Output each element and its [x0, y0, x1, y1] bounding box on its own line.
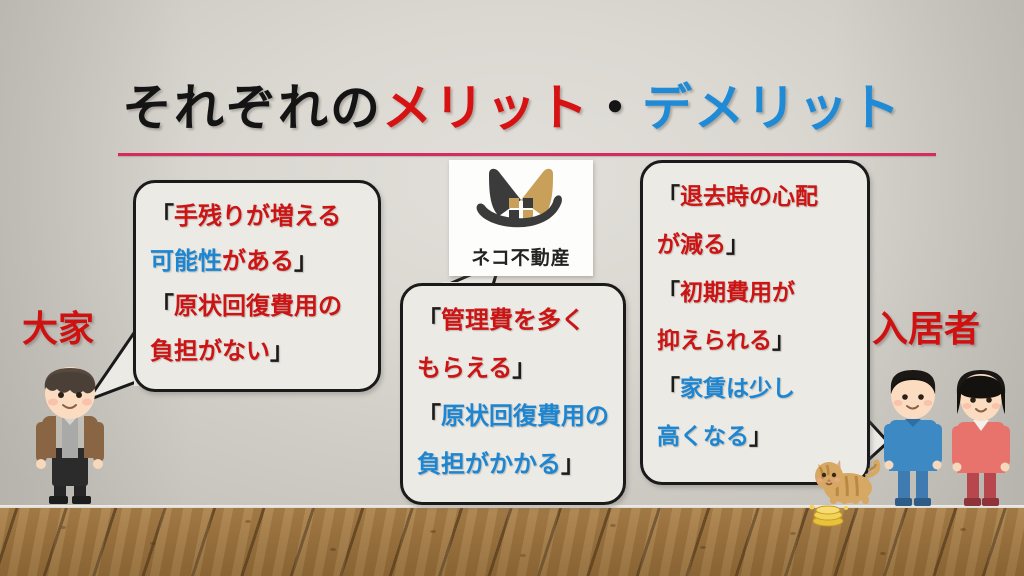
tenant-woman	[944, 364, 1018, 512]
wooden-floor	[0, 508, 1024, 576]
bubble-owner-line-1: 「手残りが増える	[150, 193, 366, 238]
text-red: がある	[222, 246, 294, 275]
bracket-close: 」	[270, 336, 294, 365]
text-blue: 高くなる	[657, 423, 749, 450]
text-red: 原状回復費用の	[174, 291, 342, 320]
bracket-close: 」	[749, 423, 772, 450]
text-red: もらえる	[417, 353, 512, 382]
bracket-open: 「	[657, 183, 680, 210]
bracket-open: 「	[150, 291, 174, 320]
slide-canvas: それぞれのメリット・デメリット 大家 入居者 「手残りが増える 可能性がある」 …	[0, 0, 1024, 576]
bubble-agent-line-2: もらえる」	[417, 344, 611, 392]
text-blue: 負担がかかる	[417, 449, 561, 478]
landlord-man	[18, 360, 122, 512]
bracket-open: 「	[417, 401, 441, 430]
bubble-tenant-line-3: 「初期費用が	[657, 269, 855, 317]
floor-knots	[0, 508, 1024, 576]
bubble-tenant-lines: 「退去時の心配 が減る」 「初期費用が 抑えられる」 「家賃は少し 高くなる」	[643, 163, 867, 461]
title-part-black-1: それぞれの	[122, 78, 382, 137]
bubble-owner-line-4: 負担がない」	[150, 328, 366, 373]
text-red: 管理費を多く	[441, 305, 585, 334]
speech-bubble-owner: 「手残りが増える 可能性がある」 「原状回復費用の 負担がない」	[133, 180, 381, 392]
gold-coins	[806, 505, 852, 527]
speech-bubble-tenant: 「退去時の心配 が減る」 「初期費用が 抑えられる」 「家賃は少し 高くなる」	[640, 160, 870, 485]
cat-house-icon	[449, 164, 593, 236]
bracket-open: 「	[657, 375, 680, 402]
bubble-tenant-line-5: 「家賃は少し	[657, 365, 855, 413]
text-red: 退去時の心配	[680, 183, 818, 210]
text-red: 抑えられる	[657, 327, 772, 354]
page-title: それぞれのメリット・デメリット	[0, 68, 1024, 140]
bubble-agent-line-3: 「原状回復費用の	[417, 392, 611, 440]
label-tenant: 入居者	[872, 300, 980, 352]
bubble-tenant-line-2: が減る」	[657, 221, 855, 269]
bracket-open: 「	[417, 305, 441, 334]
bracket-open: 「	[657, 279, 680, 306]
text-red: 初期費用が	[680, 279, 795, 306]
text-blue: 家賃は少し	[680, 375, 795, 402]
bracket-close: 」	[726, 231, 749, 258]
tabby-cat	[810, 448, 888, 510]
bubble-agent-line-4: 負担がかかる」	[417, 440, 611, 488]
bubble-agent-lines: 「管理費を多く もらえる」 「原状回復費用の 負担がかかる」	[403, 286, 623, 488]
title-divider	[118, 153, 936, 156]
title-part-merit: メリット	[382, 78, 590, 137]
title-part-demerit: デメリット	[642, 78, 902, 137]
title-part-separator: ・	[590, 78, 642, 137]
speech-bubble-agent: 「管理費を多く もらえる」 「原状回復費用の 負担がかかる」	[400, 283, 626, 505]
text-red: 手残りが増える	[174, 201, 341, 230]
bracket-open: 「	[150, 201, 174, 230]
bracket-close: 」	[772, 327, 795, 354]
bubble-owner-line-2: 可能性がある」	[150, 238, 366, 283]
bracket-close: 」	[512, 353, 536, 382]
text-red: 負担がない	[150, 336, 270, 365]
company-logo: ネコ不動産	[449, 160, 593, 276]
text-blue: 可能性	[150, 246, 222, 275]
bubble-owner-line-3: 「原状回復費用の	[150, 283, 366, 328]
bracket-close: 」	[294, 246, 318, 275]
text-red: が減る	[657, 231, 726, 258]
bubble-tenant-line-4: 抑えられる」	[657, 317, 855, 365]
text-blue: 原状回復費用の	[441, 401, 609, 430]
label-owner: 大家	[22, 300, 94, 352]
bracket-close: 」	[561, 449, 585, 478]
bubble-agent-line-1: 「管理費を多く	[417, 296, 611, 344]
logo-text: ネコ不動産	[449, 243, 593, 270]
bubble-tenant-line-1: 「退去時の心配	[657, 173, 855, 221]
bubble-owner-lines: 「手残りが増える 可能性がある」 「原状回復費用の 負担がない」	[136, 183, 378, 373]
